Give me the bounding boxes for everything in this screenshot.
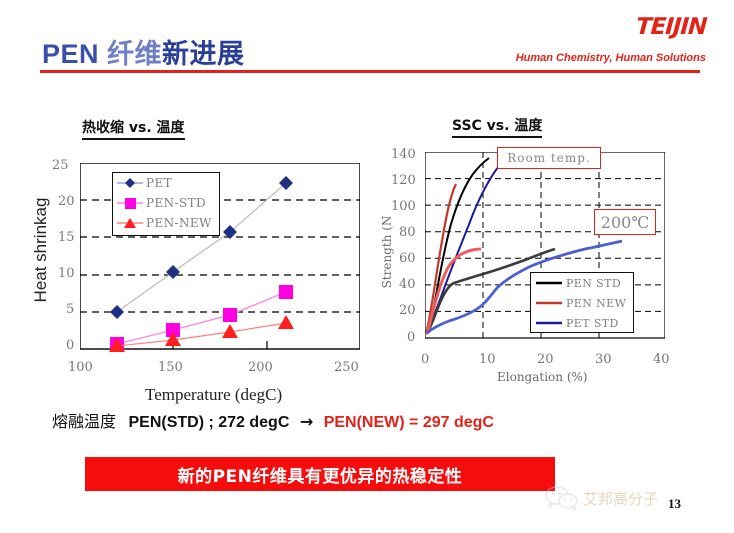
ytick-0: 0 (66, 338, 74, 353)
legend-marker-triangle-icon (117, 216, 143, 230)
annotation-room-temp: Room temp. (497, 147, 601, 169)
ssc-ytick-100: 100 (391, 199, 416, 214)
legend-marker-diamond-icon (117, 176, 143, 190)
ytick-25: 25 (52, 158, 69, 173)
arrow-icon: → (300, 412, 313, 431)
page-title-cjk-light: 纤维 (107, 39, 162, 70)
legend-item-ssc-pen-std: PEN STD (531, 273, 633, 293)
ssc-ytick-20: 20 (399, 303, 416, 318)
legend-ssc: PEN STD PEN NEW PET STD (530, 272, 634, 333)
ytick-20: 20 (58, 194, 75, 209)
conclusion-banner-text: 新的PEN纤维具有更优异的热稳定性 (178, 462, 463, 487)
ssc-ytick-40: 40 (399, 277, 416, 292)
ytick-5: 5 (66, 302, 74, 317)
ssc-xtick-40: 40 (653, 352, 670, 367)
ssc-ytick-60: 60 (399, 251, 416, 266)
legend-item-ssc-pen-new: PEN NEW (531, 293, 633, 313)
ssc-xtick-0: 0 (421, 352, 429, 367)
title-divider (40, 70, 700, 73)
ssc-xtick-10: 10 (479, 352, 496, 367)
ssc-ytick-120: 120 (391, 173, 416, 188)
melting-temperature-label: 熔融温度 (52, 412, 116, 431)
page-title: PEN 纤维新进展 (42, 32, 245, 71)
ssc-ytick-80: 80 (399, 225, 416, 240)
teijin-logo: TEIJIN (635, 14, 707, 40)
yaxis-label-heat-shrinkage: Heat shrinkag (31, 185, 51, 315)
legend-label-ssc-pen-std: PEN STD (566, 277, 621, 290)
legend-line-blue-icon (535, 318, 563, 328)
ssc-xtick-20: 20 (537, 352, 554, 367)
melting-temperature-std: PEN(STD) ; 272 degC (128, 414, 289, 431)
legend-label-ssc-pen-new: PEN NEW (566, 297, 626, 310)
legend-item-pen-new: PEN-NEW (113, 213, 219, 233)
annotation-200c: 200℃ (594, 209, 656, 235)
legend-item-pet: PET (113, 173, 219, 193)
page-title-cjk-bold: 新进展 (162, 39, 245, 70)
legend-marker-square-icon (117, 196, 143, 210)
page-number: 13 (668, 496, 681, 512)
legend-line-red-icon (535, 298, 563, 308)
ssc-xtick-30: 30 (595, 352, 612, 367)
brand-tagline: Human Chemistry, Human Solutions (516, 52, 706, 64)
legend-item-ssc-pet-std: PET STD (531, 313, 633, 333)
legend-heat-shrinkage: PET PEN-STD PEN-NEW (112, 172, 220, 236)
legend-item-pen-std: PEN-STD (113, 193, 219, 213)
legend-label-ssc-pet-std: PET STD (566, 317, 619, 330)
watermark-text: 艾邦高分子 (583, 488, 658, 509)
ssc-ytick-140: 140 (391, 147, 416, 162)
conclusion-banner: 新的PEN纤维具有更优异的热稳定性 (85, 457, 555, 491)
chart-title-heat-shrinkage: 热收缩 vs. 温度 (82, 117, 185, 140)
ssc-ytick-0: 0 (407, 330, 415, 345)
melting-temperature-new: PEN(NEW) = 297 degC (324, 414, 494, 431)
page-title-latin: PEN (42, 39, 99, 69)
wechat-icon (545, 486, 579, 510)
legend-label-pet: PET (146, 176, 172, 190)
legend-line-black-icon (535, 278, 563, 288)
slide-root: PEN 纤维新进展 TEIJIN Human Chemistry, Human … (0, 0, 734, 533)
melting-temperature-line: 熔融温度 PEN(STD) ; 272 degC → PEN(NEW) = 29… (52, 408, 494, 432)
legend-label-pen-std: PEN-STD (146, 196, 206, 210)
watermark: 艾邦高分子 (545, 486, 658, 510)
xaxis-label-ssc: Elongation (%) (497, 370, 588, 384)
legend-label-pen-new: PEN-NEW (146, 216, 212, 230)
chart-title-ssc: SSC vs. 温度 (452, 115, 542, 138)
xaxis-label-heat-shrinkage: Temperature (degC) (145, 385, 282, 405)
ytick-10: 10 (58, 266, 75, 281)
ytick-15: 15 (58, 230, 75, 245)
